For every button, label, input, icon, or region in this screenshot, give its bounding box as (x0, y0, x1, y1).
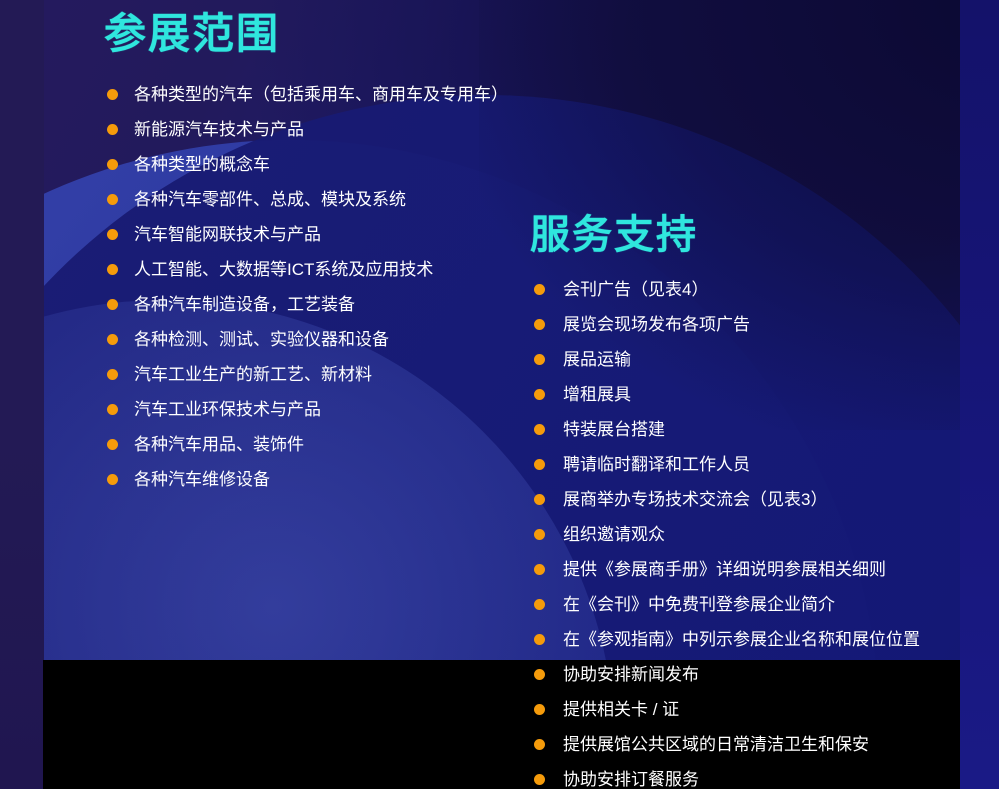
slide-canvas: 参展范围 各种类型的汽车（包括乘用车、商用车及专用车） 新能源汽车技术与产品 各… (0, 0, 999, 789)
bullet-dot-icon (107, 229, 118, 240)
bullet-dot-icon (534, 424, 545, 435)
list-item: 展览会现场发布各项广告 (530, 307, 980, 342)
list-item-label: 展品运输 (563, 350, 631, 369)
list-item-label: 各种检测、测试、实验仪器和设备 (134, 330, 389, 349)
list-item: 在《参观指南》中列示参展企业名称和展位位置 (530, 622, 980, 657)
list-item: 各种汽车用品、装饰件 (104, 427, 564, 462)
list-item-label: 组织邀请观众 (563, 525, 665, 544)
list-item-label: 增租展具 (563, 385, 631, 404)
exhibit-scope-title: 参展范围 (104, 8, 564, 61)
bullet-dot-icon (107, 124, 118, 135)
list-item: 提供相关卡 / 证 (530, 692, 980, 727)
list-item-label: 各种汽车制造设备，工艺装备 (134, 295, 355, 314)
bullet-dot-icon (107, 334, 118, 345)
bullet-dot-icon (534, 529, 545, 540)
list-item: 各种汽车维修设备 (104, 462, 564, 497)
list-item-label: 汽车工业生产的新工艺、新材料 (134, 365, 372, 384)
list-item-label: 各种汽车维修设备 (134, 470, 270, 489)
list-item-label: 汽车智能网联技术与产品 (134, 225, 321, 244)
list-item: 协助安排新闻发布 (530, 657, 980, 692)
bullet-dot-icon (107, 194, 118, 205)
bullet-dot-icon (107, 369, 118, 380)
bullet-dot-icon (107, 264, 118, 275)
bullet-dot-icon (534, 284, 545, 295)
list-item-label: 协助安排订餐服务 (563, 770, 699, 789)
bullet-dot-icon (534, 774, 545, 785)
list-item: 特装展台搭建 (530, 412, 980, 447)
list-item: 各种类型的概念车 (104, 147, 564, 182)
bullet-dot-icon (534, 389, 545, 400)
list-item: 会刊广告（见表4） (530, 272, 980, 307)
exhibit-scope-section: 参展范围 各种类型的汽车（包括乘用车、商用车及专用车） 新能源汽车技术与产品 各… (104, 8, 564, 497)
bullet-dot-icon (534, 564, 545, 575)
list-item: 在《会刊》中免费刊登参展企业简介 (530, 587, 980, 622)
list-item-label: 各种汽车用品、装饰件 (134, 435, 304, 454)
list-item: 增租展具 (530, 377, 980, 412)
list-item: 新能源汽车技术与产品 (104, 112, 564, 147)
bullet-dot-icon (107, 159, 118, 170)
list-item-label: 提供相关卡 / 证 (563, 700, 679, 719)
list-item: 人工智能、大数据等ICT系统及应用技术 (104, 252, 564, 287)
list-item: 展商举办专场技术交流会（见表3） (530, 482, 980, 517)
list-item: 汽车工业环保技术与产品 (104, 392, 564, 427)
service-support-title: 服务支持 (530, 210, 980, 260)
list-item-label: 聘请临时翻译和工作人员 (563, 455, 750, 474)
service-support-list: 会刊广告（见表4） 展览会现场发布各项广告 展品运输 增租展具 特装展台搭建 聘… (530, 272, 980, 789)
bullet-dot-icon (107, 299, 118, 310)
bullet-dot-icon (534, 739, 545, 750)
list-item-label: 在《参观指南》中列示参展企业名称和展位位置 (563, 630, 920, 649)
bullet-dot-icon (534, 494, 545, 505)
bullet-dot-icon (534, 459, 545, 470)
list-item-label: 汽车工业环保技术与产品 (134, 400, 321, 419)
slide-content: 参展范围 各种类型的汽车（包括乘用车、商用车及专用车） 新能源汽车技术与产品 各… (0, 0, 999, 789)
list-item-label: 人工智能、大数据等ICT系统及应用技术 (134, 260, 433, 279)
list-item-label: 提供展馆公共区域的日常清洁卫生和保安 (563, 735, 869, 754)
bullet-dot-icon (107, 89, 118, 100)
list-item: 展品运输 (530, 342, 980, 377)
bullet-dot-icon (534, 319, 545, 330)
list-item-label: 提供《参展商手册》详细说明参展相关细则 (563, 560, 886, 579)
list-item: 提供《参展商手册》详细说明参展相关细则 (530, 552, 980, 587)
list-item-label: 展览会现场发布各项广告 (563, 315, 750, 334)
list-item: 各种类型的汽车（包括乘用车、商用车及专用车） (104, 77, 564, 112)
list-item-label: 会刊广告（见表4） (563, 280, 708, 299)
bullet-dot-icon (107, 404, 118, 415)
list-item: 各种汽车零部件、总成、模块及系统 (104, 182, 564, 217)
bullet-dot-icon (534, 599, 545, 610)
exhibit-scope-list: 各种类型的汽车（包括乘用车、商用车及专用车） 新能源汽车技术与产品 各种类型的概… (104, 77, 564, 497)
list-item: 汽车工业生产的新工艺、新材料 (104, 357, 564, 392)
bullet-dot-icon (534, 669, 545, 680)
service-support-section: 服务支持 会刊广告（见表4） 展览会现场发布各项广告 展品运输 增租展具 特装展… (530, 210, 980, 789)
bullet-dot-icon (107, 474, 118, 485)
bullet-dot-icon (534, 704, 545, 715)
list-item-label: 各种类型的概念车 (134, 155, 270, 174)
list-item-label: 各种类型的汽车（包括乘用车、商用车及专用车） (134, 85, 508, 104)
list-item-label: 各种汽车零部件、总成、模块及系统 (134, 190, 406, 209)
list-item-label: 特装展台搭建 (563, 420, 665, 439)
list-item-label: 新能源汽车技术与产品 (134, 120, 304, 139)
list-item-label: 协助安排新闻发布 (563, 665, 699, 684)
bullet-dot-icon (534, 634, 545, 645)
list-item: 各种汽车制造设备，工艺装备 (104, 287, 564, 322)
list-item: 聘请临时翻译和工作人员 (530, 447, 980, 482)
list-item-label: 展商举办专场技术交流会（见表3） (563, 490, 827, 509)
list-item-label: 在《会刊》中免费刊登参展企业简介 (563, 595, 835, 614)
list-item: 协助安排订餐服务 (530, 762, 980, 789)
list-item: 组织邀请观众 (530, 517, 980, 552)
bullet-dot-icon (107, 439, 118, 450)
list-item: 汽车智能网联技术与产品 (104, 217, 564, 252)
list-item: 各种检测、测试、实验仪器和设备 (104, 322, 564, 357)
list-item: 提供展馆公共区域的日常清洁卫生和保安 (530, 727, 980, 762)
bullet-dot-icon (534, 354, 545, 365)
